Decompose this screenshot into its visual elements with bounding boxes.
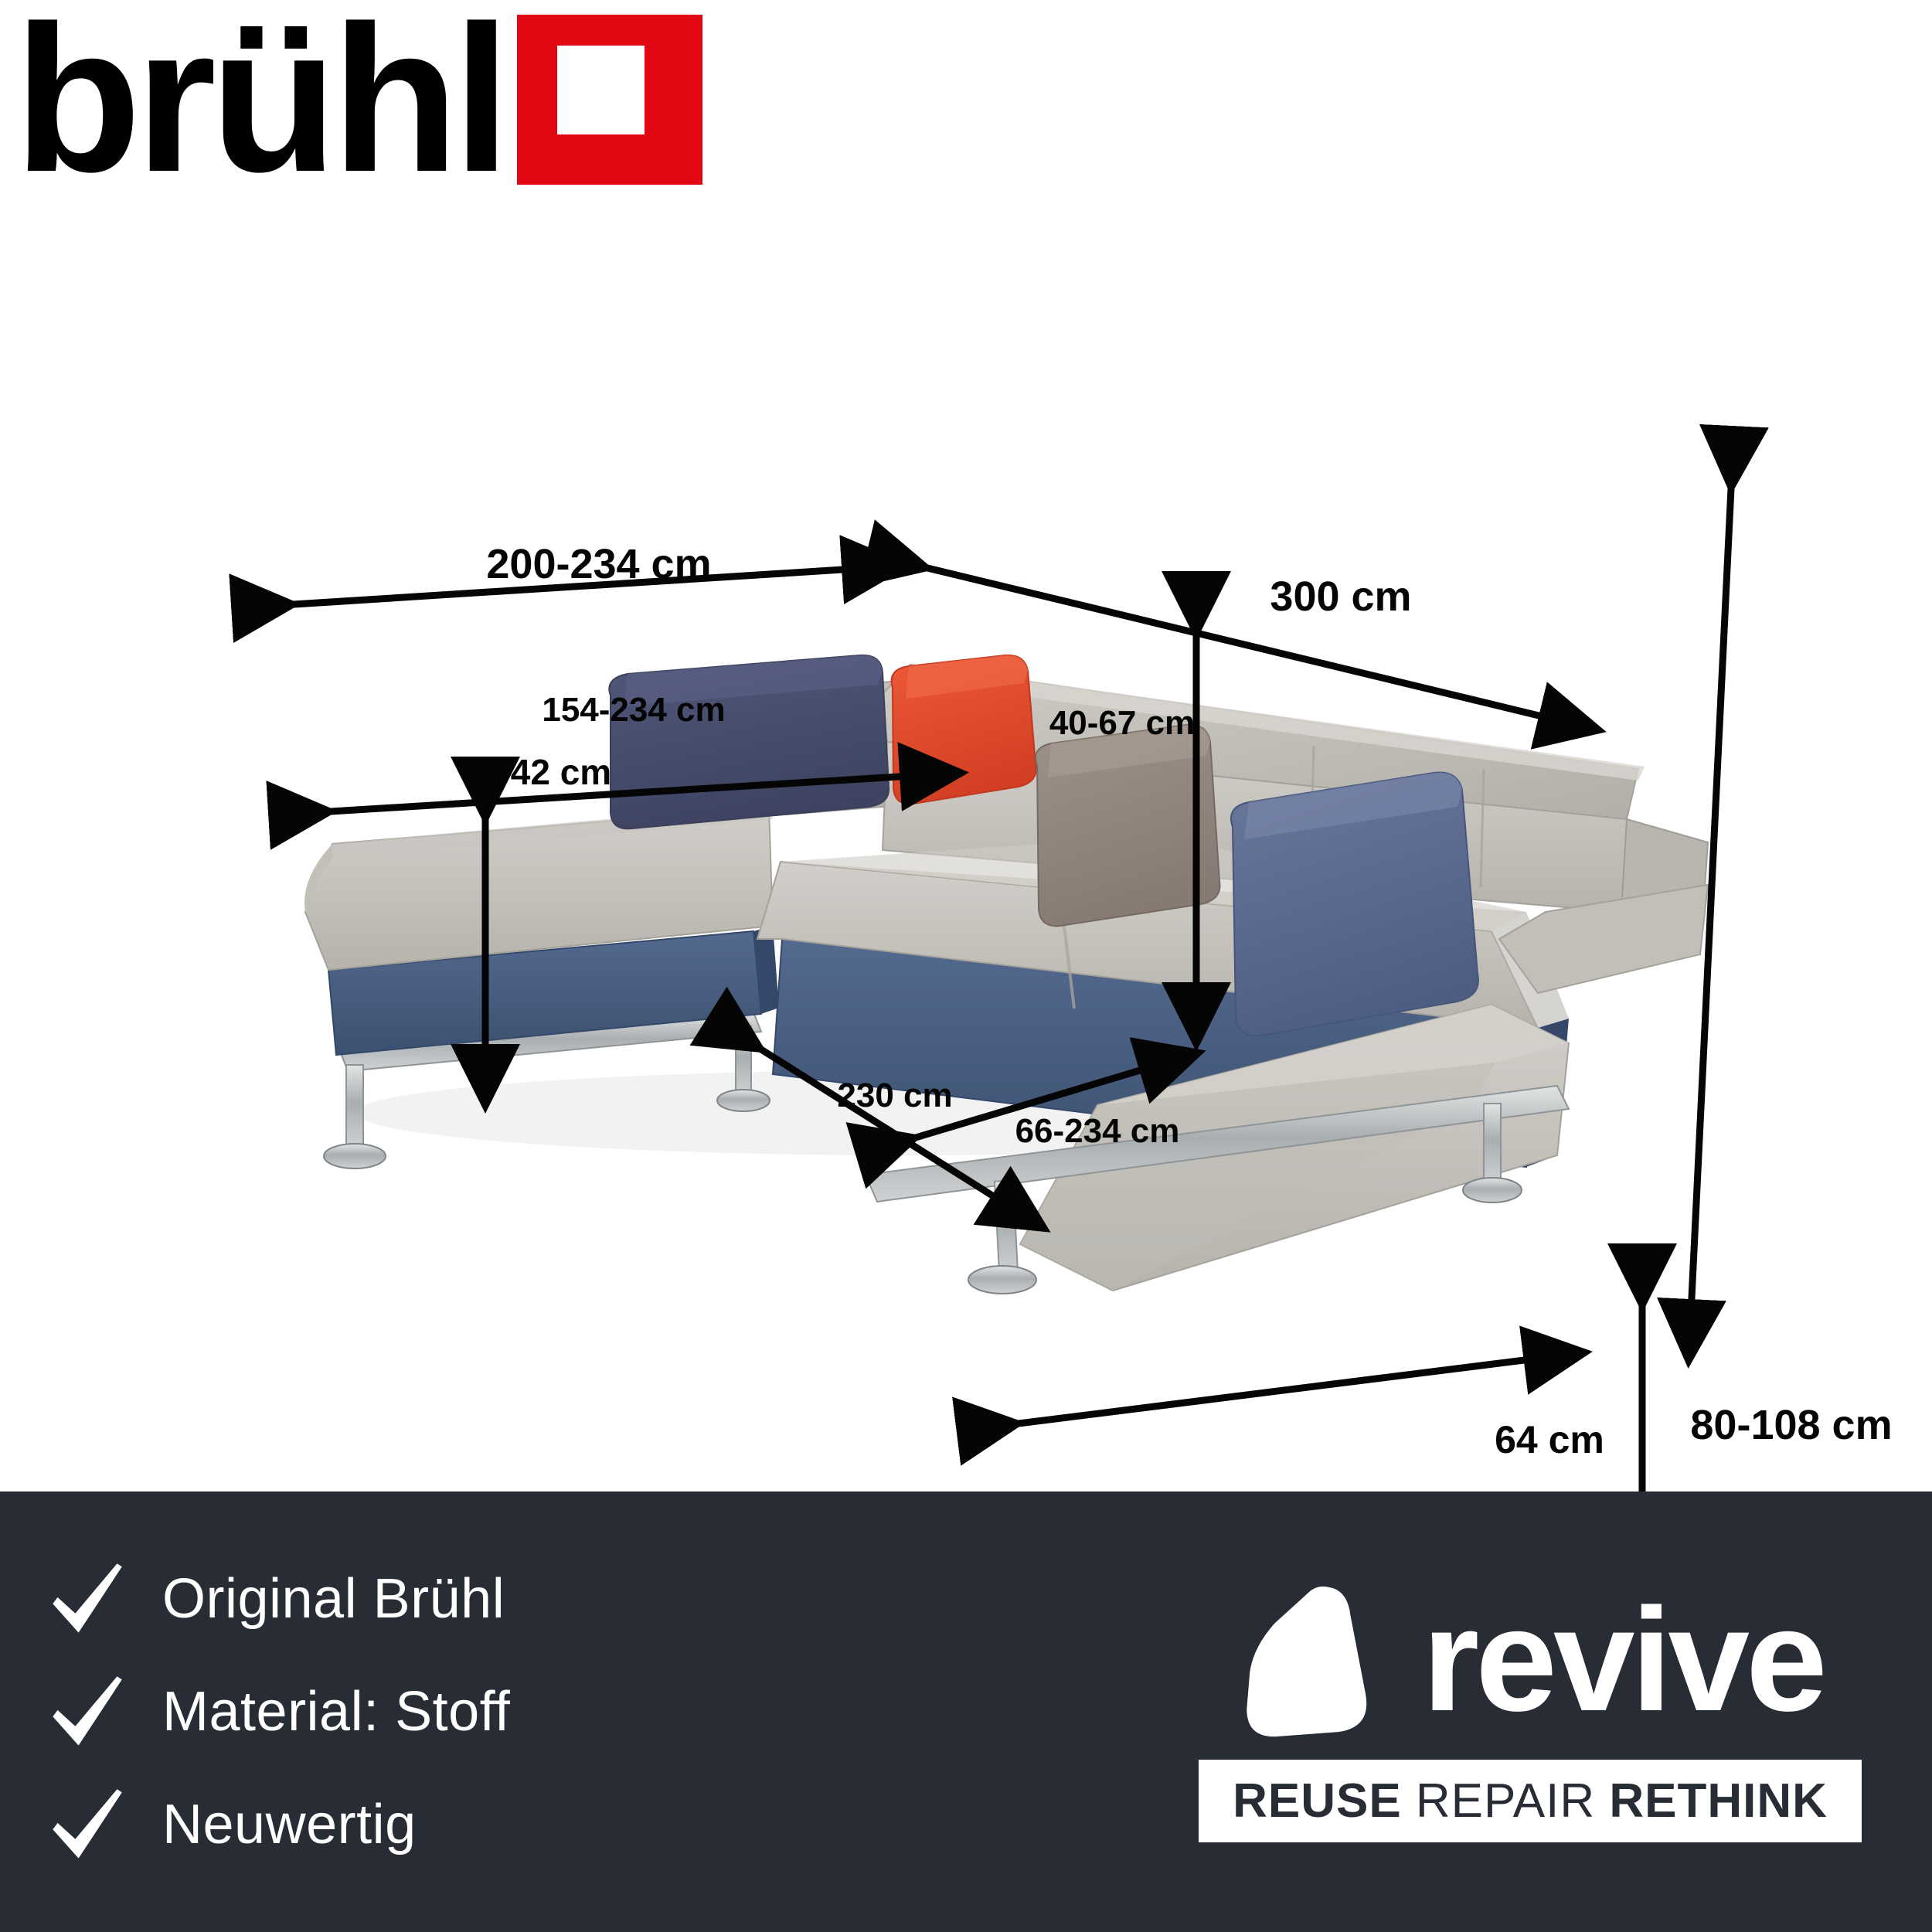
revive-lockup: revive bbox=[1236, 1581, 1823, 1740]
bruehl-wordmark: brühl bbox=[14, 14, 505, 185]
cushion-red bbox=[892, 655, 1036, 804]
dim-label-seat-width: 66-234 cm bbox=[1015, 1112, 1180, 1150]
feature-item-condition: Neuwertig bbox=[46, 1779, 1159, 1870]
cushion-blue-right bbox=[1231, 772, 1478, 1036]
check-icon bbox=[46, 1784, 127, 1865]
bruehl-logo: brühl bbox=[14, 14, 702, 185]
feature-label-material: Material: Stoff bbox=[162, 1680, 510, 1743]
cushion-taupe bbox=[1036, 725, 1219, 926]
brand-header: brühl bbox=[0, 0, 1932, 232]
tagline-rethink: RETHINK bbox=[1609, 1774, 1828, 1828]
footer-bar: Original Brühl Material: Stoff Neuwertig… bbox=[0, 1492, 1932, 1932]
product-image-stage: 200-234 cm 300 cm 154-234 cm 40-67 cm 42… bbox=[0, 232, 1932, 1492]
revive-tagline-box: REUSE REPAIR RETHINK bbox=[1199, 1760, 1862, 1842]
dim-label-total-height: 80-108 cm bbox=[1690, 1402, 1892, 1448]
tagline-repair: REPAIR bbox=[1416, 1774, 1595, 1828]
check-icon bbox=[46, 1672, 127, 1752]
feature-list: Original Brühl Material: Stoff Neuwertig bbox=[0, 1553, 1159, 1870]
feature-label-condition: Neuwertig bbox=[162, 1793, 417, 1856]
revive-mark-icon bbox=[1236, 1581, 1391, 1740]
dim-label-seat-height: 42 cm bbox=[511, 752, 611, 792]
sofa-illustration bbox=[304, 655, 1708, 1294]
bruehl-logo-square-icon bbox=[517, 15, 702, 185]
tagline-reuse: REUSE bbox=[1233, 1774, 1402, 1828]
bruehl-logo-square-inner bbox=[557, 46, 645, 134]
revive-tagline: REUSE REPAIR RETHINK bbox=[1233, 1774, 1828, 1828]
revive-wordmark: revive bbox=[1422, 1594, 1823, 1726]
arrow-side-depth bbox=[1019, 1352, 1586, 1423]
dim-label-overall-width: 300 cm bbox=[1270, 573, 1411, 620]
check-icon bbox=[46, 1559, 127, 1639]
sofa-dimension-diagram: 200-234 cm 300 cm 154-234 cm 40-67 cm 42… bbox=[0, 232, 1932, 1492]
cushion-navy-left bbox=[609, 655, 889, 829]
feature-item-material: Material: Stoff bbox=[46, 1666, 1159, 1757]
feature-label-original: Original Brühl bbox=[162, 1567, 505, 1631]
feature-item-original: Original Brühl bbox=[46, 1553, 1159, 1645]
dim-label-depth-chaise-top: 200-234 cm bbox=[486, 541, 711, 587]
dim-label-seat-depth: 230 cm bbox=[837, 1077, 952, 1114]
revive-branding: revive REUSE REPAIR RETHINK bbox=[1159, 1581, 1932, 1842]
dim-label-chaise-seat-width: 154-234 cm bbox=[542, 691, 725, 729]
dim-label-backrest-height: 40-67 cm bbox=[1049, 704, 1195, 742]
dim-label-armrest-height: 64 cm bbox=[1495, 1418, 1604, 1461]
